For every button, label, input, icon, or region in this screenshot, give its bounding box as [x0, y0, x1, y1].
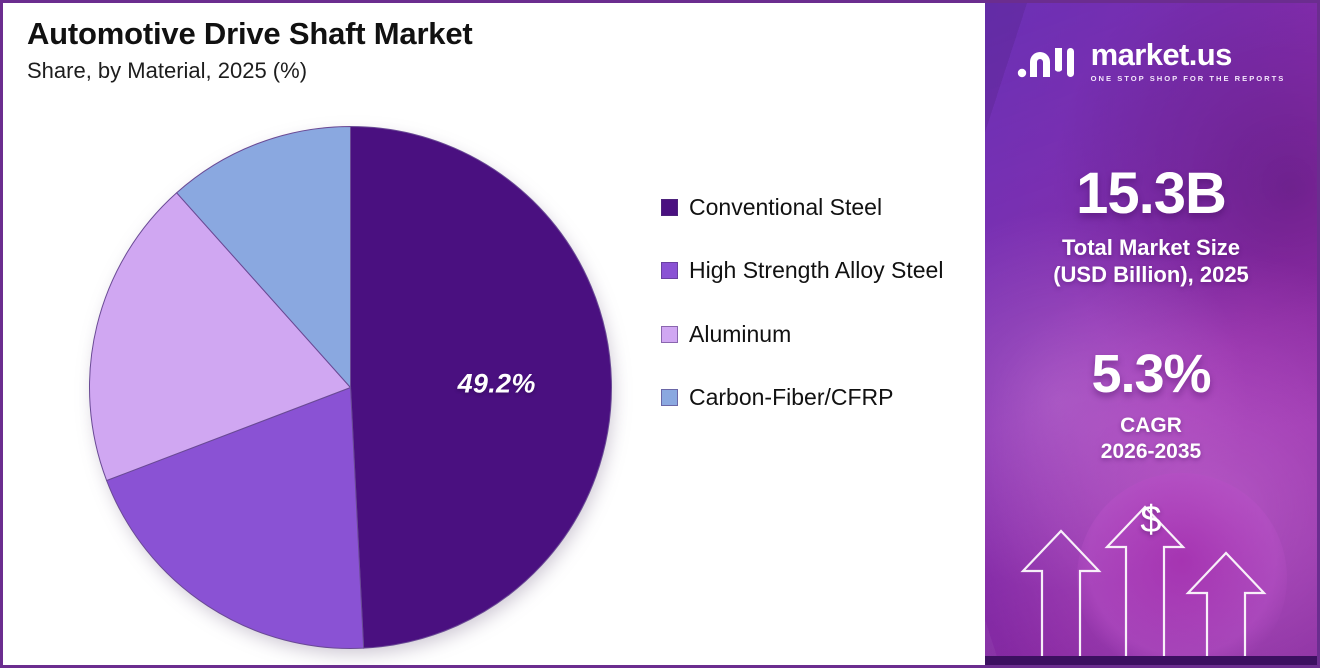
legend-swatch-icon: [661, 326, 678, 343]
legend-swatch-icon: [661, 199, 678, 216]
chart-header: Automotive Drive Shaft Market Share, by …: [27, 17, 727, 84]
chart-panel: Automotive Drive Shaft Market Share, by …: [3, 3, 985, 665]
logo-wordmark: market.us: [1091, 39, 1232, 70]
legend-item-label: Conventional Steel: [689, 193, 882, 222]
legend-item-conventional-steel[interactable]: Conventional Steel: [661, 193, 971, 222]
page-title: Automotive Drive Shaft Market: [27, 17, 727, 52]
legend-item-label: Carbon-Fiber/CFRP: [689, 383, 894, 412]
kpi-caption: Total Market Size (USD Billion), 2025: [985, 235, 1317, 289]
logo-tagline: ONE STOP SHOP FOR THE REPORTS: [1091, 74, 1286, 83]
kpi-cagr: 5.3% CAGR 2026-2035: [985, 347, 1317, 464]
kpi-caption-line-2: (USD Billion), 2025: [985, 262, 1317, 289]
chart-subtitle: Share, by Material, 2025 (%): [27, 58, 727, 84]
legend-item-label: High Strength Alloy Steel: [689, 256, 943, 285]
kpi-value: 15.3B: [985, 165, 1317, 223]
infographic-card: Automotive Drive Shaft Market Share, by …: [0, 0, 1320, 668]
panel-base-bar: [985, 656, 1317, 665]
market-us-logo-icon: [1017, 40, 1081, 82]
logo-text: market.us ONE STOP SHOP FOR THE REPORTS: [1091, 39, 1286, 83]
kpi-caption-line-1: CAGR: [985, 413, 1317, 439]
growth-arrows-icon: [985, 505, 1317, 665]
kpi-caption-line-1: Total Market Size: [985, 235, 1317, 262]
chart-legend: Conventional Steel High Strength Alloy S…: [661, 193, 971, 447]
legend-item-high-strength-alloy-steel[interactable]: High Strength Alloy Steel: [661, 256, 971, 285]
legend-item-carbon-fiber-cfrp[interactable]: Carbon-Fiber/CFRP: [661, 383, 971, 412]
kpi-caption-line-2: 2026-2035: [985, 439, 1317, 465]
legend-swatch-icon: [661, 262, 678, 279]
legend-item-label: Aluminum: [689, 320, 791, 349]
stats-panel: market.us ONE STOP SHOP FOR THE REPORTS …: [985, 3, 1317, 665]
pie-chart: 49.2%: [88, 125, 613, 650]
pie-slice-label-conventional-steel: 49.2%: [458, 368, 536, 399]
kpi-value: 5.3%: [985, 347, 1317, 401]
kpi-total-market-size: 15.3B Total Market Size (USD Billion), 2…: [985, 165, 1317, 289]
legend-item-aluminum[interactable]: Aluminum: [661, 320, 971, 349]
brand-logo[interactable]: market.us ONE STOP SHOP FOR THE REPORTS: [985, 39, 1317, 83]
legend-swatch-icon: [661, 389, 678, 406]
kpi-caption: CAGR 2026-2035: [985, 413, 1317, 464]
